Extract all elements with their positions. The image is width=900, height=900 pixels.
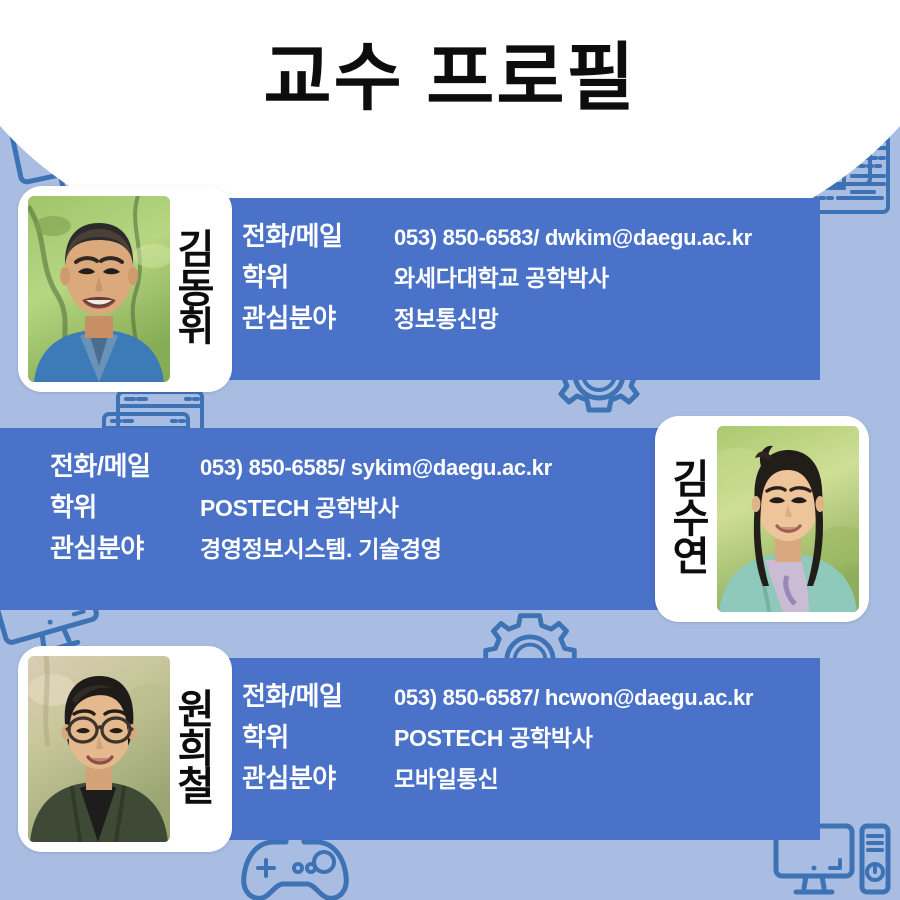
name-char: 희 [178,730,215,769]
avatar [717,426,859,612]
professor-photo-tile-2: 김 수 연 [655,416,869,622]
detail-row-interests: 관심분야 경영정보시스템. 기술경영 [50,528,552,565]
name-char: 수 [673,500,710,539]
name-char: 김 [673,461,710,500]
label-contact: 전화/메일 [242,216,394,253]
professor-card-1: 전화/메일 053) 850-6583/ dwkim@daegu.ac.kr 학… [130,198,820,380]
label-degree: 학위 [50,487,200,524]
page-title: 교수 프로필 [0,18,900,125]
professor-profile-poster: 교수 프로필 전화/메일 053) 850-6583/ dwkim@daegu.… [0,0,900,900]
avatar [28,656,170,842]
label-contact: 전화/메일 [50,446,200,483]
value-degree: POSTECH 공학박사 [200,489,399,523]
label-interests: 관심분야 [242,298,394,335]
detail-row-degree: 학위 POSTECH 공학박사 [50,487,552,524]
professor-photo-tile-3: 원 희 철 [18,646,232,852]
value-interests: 모바일통신 [394,760,498,794]
name-char: 동 [178,270,215,309]
value-interests: 경영정보시스템. 기술경영 [200,530,442,564]
value-contact: 053) 850-6583/ dwkim@daegu.ac.kr [394,225,752,251]
label-interests: 관심분야 [50,528,200,565]
professor-details-1: 전화/메일 053) 850-6583/ dwkim@daegu.ac.kr 학… [242,216,752,335]
name-char: 원 [178,691,215,730]
name-char: 김 [178,231,215,270]
avatar [28,196,170,382]
detail-row-degree: 학위 와세다대학교 공학박사 [242,257,752,294]
value-contact: 053) 850-6587/ hcwon@daegu.ac.kr [394,685,753,711]
label-degree: 학위 [242,717,394,754]
value-degree: 와세다대학교 공학박사 [394,259,609,293]
professor-card-3: 전화/메일 053) 850-6587/ hcwon@daegu.ac.kr 학… [130,658,820,840]
value-degree: POSTECH 공학박사 [394,719,593,753]
professor-details-3: 전화/메일 053) 850-6587/ hcwon@daegu.ac.kr 학… [242,676,753,795]
value-contact: 053) 850-6585/ sykim@daegu.ac.kr [200,455,552,481]
label-interests: 관심분야 [242,758,394,795]
detail-row-contact: 전화/메일 053) 850-6583/ dwkim@daegu.ac.kr [242,216,752,253]
professor-card-2: 전화/메일 053) 850-6585/ sykim@daegu.ac.kr 학… [0,428,690,610]
label-contact: 전화/메일 [242,676,394,713]
name-char: 철 [178,768,215,807]
professor-name-3: 원 희 철 [170,656,222,842]
detail-row-interests: 관심분야 모바일통신 [242,758,753,795]
name-char: 연 [673,538,710,577]
professor-details-2: 전화/메일 053) 850-6585/ sykim@daegu.ac.kr 학… [50,446,552,565]
detail-row-contact: 전화/메일 053) 850-6585/ sykim@daegu.ac.kr [50,446,552,483]
value-interests: 정보통신망 [394,300,498,334]
label-degree: 학위 [242,257,394,294]
professor-photo-tile-1: 김 동 휘 [18,186,232,392]
professor-name-1: 김 동 휘 [170,196,222,382]
professor-name-2: 김 수 연 [665,426,717,612]
name-char: 휘 [178,308,215,347]
detail-row-interests: 관심분야 정보통신망 [242,298,752,335]
detail-row-degree: 학위 POSTECH 공학박사 [242,717,753,754]
detail-row-contact: 전화/메일 053) 850-6587/ hcwon@daegu.ac.kr [242,676,753,713]
